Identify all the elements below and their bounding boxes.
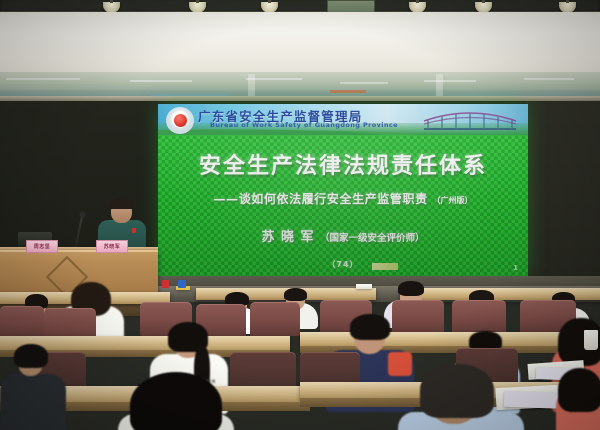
- slide-page-number: 1: [513, 264, 518, 272]
- bridge-icon: [422, 111, 518, 133]
- slide-subtitle-main: ——谈如何依法履行安全生产监管职责: [214, 192, 428, 206]
- paper-on-desk: [356, 284, 372, 289]
- agency-name-en: Bureau of Work Safety of Guangdong Provi…: [210, 121, 398, 129]
- agency-emblem-icon: [166, 107, 194, 134]
- chair[interactable]: [250, 302, 300, 336]
- presenter-badge: [132, 228, 136, 233]
- lecture-hall-photo: 广东省安全生产监督管理局 Bureau of Work Safety of Gu…: [0, 0, 600, 430]
- slide-banner: 广东省安全生产监督管理局 Bureau of Work Safety of Gu…: [158, 104, 528, 135]
- slide-taskbar-tag: [372, 263, 398, 270]
- projection-screen: 广东省安全生产监督管理局 Bureau of Work Safety of Gu…: [158, 104, 528, 276]
- item-on-desk: [178, 280, 186, 288]
- slide-title: 安全生产法律法规责任体系: [158, 148, 528, 180]
- slide-note: （74）: [158, 259, 528, 270]
- presenter-hair: [110, 198, 133, 209]
- slide-presenter-line: 苏 晓 军 （国家一级安全评价师）: [158, 226, 528, 245]
- chair[interactable]: [0, 306, 44, 340]
- nameplate-left-label: 周志坚: [34, 243, 51, 250]
- nameplate-right-label: 苏晓军: [104, 243, 121, 250]
- front-wall-right: [525, 96, 600, 301]
- slide-subtitle: ——谈如何依法履行安全生产监管职责 （广州版）: [158, 190, 528, 207]
- cup: [584, 330, 598, 350]
- chair[interactable]: [452, 300, 506, 334]
- presenter-name: 苏 晓 军: [261, 230, 314, 245]
- wall-top-trim: [0, 96, 600, 101]
- presenter-credential: （国家一级安全评价师）: [320, 233, 425, 244]
- item-on-desk: [162, 280, 169, 288]
- slide-subtitle-paren: （广州版）: [432, 196, 472, 205]
- nameplate-right: 苏晓军: [96, 240, 128, 253]
- nameplate-left: 周志坚: [26, 240, 58, 253]
- chair[interactable]: [392, 300, 444, 334]
